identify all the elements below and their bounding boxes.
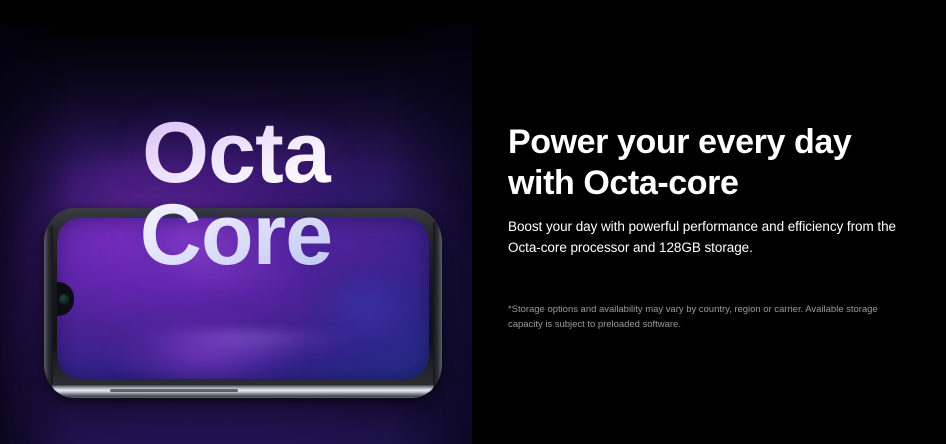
octa-core-wordmark: Octa Core bbox=[0, 113, 472, 276]
wordmark-line-core: Core bbox=[0, 195, 472, 277]
waterdrop-notch bbox=[57, 282, 74, 316]
disclaimer-text: *Storage options and availability may va… bbox=[508, 303, 904, 332]
front-camera-icon bbox=[60, 295, 68, 303]
phone-bottom-rail bbox=[52, 384, 434, 397]
body-description: Boost your day with powerful performance… bbox=[508, 216, 900, 259]
page-title: Power your every day with Octa-core bbox=[508, 122, 900, 205]
screen-text-reflection bbox=[131, 331, 362, 373]
copy-panel: Power your every day with Octa-core Boos… bbox=[508, 0, 908, 444]
product-visual-panel: Octa Core bbox=[0, 25, 472, 444]
phone-speaker-grille bbox=[110, 389, 238, 392]
promo-banner: Octa Core Power your every day with Octa… bbox=[0, 0, 946, 444]
headline-line-1: Power your every day bbox=[508, 122, 900, 163]
headline-line-2: with Octa-core bbox=[508, 163, 900, 204]
wordmark-line-octa: Octa bbox=[0, 113, 472, 195]
